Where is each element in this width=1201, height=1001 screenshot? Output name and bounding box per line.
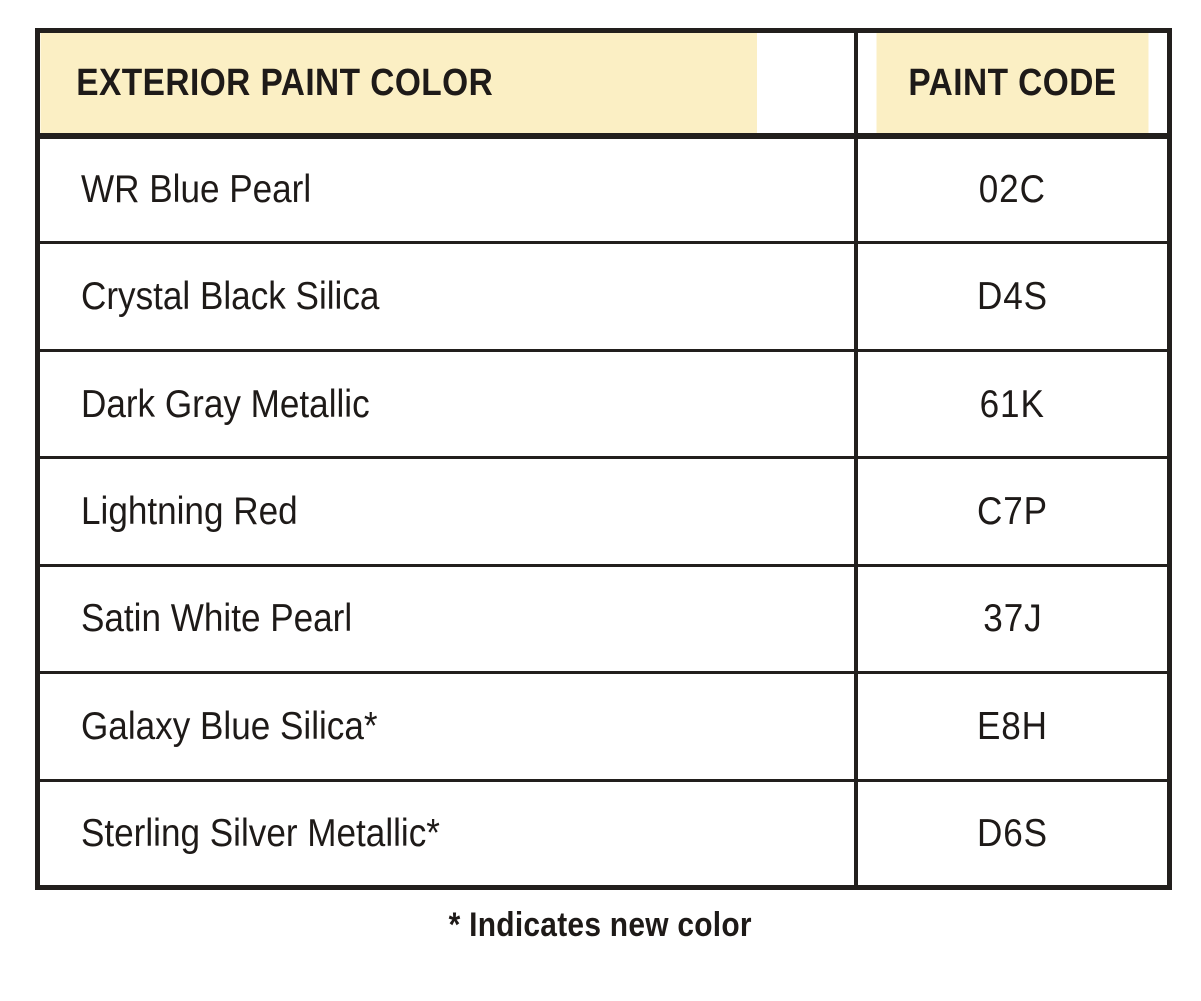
paint-code-label: 02C: [979, 170, 1046, 209]
table-row: Lightning Red C7P: [38, 458, 1170, 565]
table-row: Satin White Pearl 37J: [38, 565, 1170, 672]
table-row: Galaxy Blue Silica* E8H: [38, 673, 1170, 780]
paint-code-label: D4S: [977, 277, 1048, 316]
paint-code-label: C7P: [977, 492, 1048, 531]
paint-color-label: Satin White Pearl: [81, 599, 352, 638]
cell-paint-color: Dark Gray Metallic: [38, 350, 857, 457]
table-body: WR Blue Pearl 02C Crystal Black Silica D…: [38, 136, 1170, 888]
paint-color-label: Sterling Silver Metallic*: [81, 814, 440, 853]
paint-color-table-page: EXTERIOR PAINT COLOR PAINT CODE WR Blue …: [0, 0, 1201, 1001]
cell-paint-color: Crystal Black Silica: [38, 243, 857, 350]
header-row: EXTERIOR PAINT COLOR PAINT CODE: [38, 31, 1170, 136]
paint-color-label: WR Blue Pearl: [81, 170, 311, 209]
column-header-exterior-paint-color: EXTERIOR PAINT COLOR: [38, 31, 758, 136]
paint-code-label: E8H: [977, 707, 1048, 746]
cell-paint-color: Galaxy Blue Silica*: [38, 673, 857, 780]
cell-paint-code: 37J: [856, 565, 1169, 672]
cell-paint-code: D4S: [856, 243, 1169, 350]
cell-paint-color: Sterling Silver Metallic*: [38, 780, 857, 887]
table-row: Dark Gray Metallic 61K: [38, 350, 1170, 457]
paint-color-label: Galaxy Blue Silica*: [81, 707, 378, 746]
paint-code-label: 37J: [983, 599, 1042, 638]
table-row: Crystal Black Silica D4S: [38, 243, 1170, 350]
cell-paint-code: 02C: [856, 136, 1169, 243]
paint-color-label: Dark Gray Metallic: [81, 385, 370, 424]
cell-paint-code: 61K: [856, 350, 1169, 457]
column-header-paint-code: PAINT CODE: [875, 31, 1151, 136]
paint-code-label: 61K: [980, 385, 1045, 424]
cell-paint-code: D6S: [856, 780, 1169, 887]
cell-paint-color: WR Blue Pearl: [38, 136, 857, 243]
table-header: EXTERIOR PAINT COLOR PAINT CODE: [38, 31, 1170, 136]
paint-code-label: D6S: [977, 814, 1048, 853]
cell-paint-color: Satin White Pearl: [38, 565, 857, 672]
table-row: WR Blue Pearl 02C: [38, 136, 1170, 243]
cell-paint-code: E8H: [856, 673, 1169, 780]
exterior-paint-color-table: EXTERIOR PAINT COLOR PAINT CODE WR Blue …: [35, 28, 1172, 890]
table-footnote: * Indicates new color: [0, 908, 1201, 942]
footnote-text: * Indicates new color: [449, 908, 752, 942]
paint-color-label: Lightning Red: [81, 492, 298, 531]
paint-color-label: Crystal Black Silica: [81, 277, 379, 316]
cell-paint-color: Lightning Red: [38, 458, 857, 565]
table-row: Sterling Silver Metallic* D6S: [38, 780, 1170, 887]
cell-paint-code: C7P: [856, 458, 1169, 565]
